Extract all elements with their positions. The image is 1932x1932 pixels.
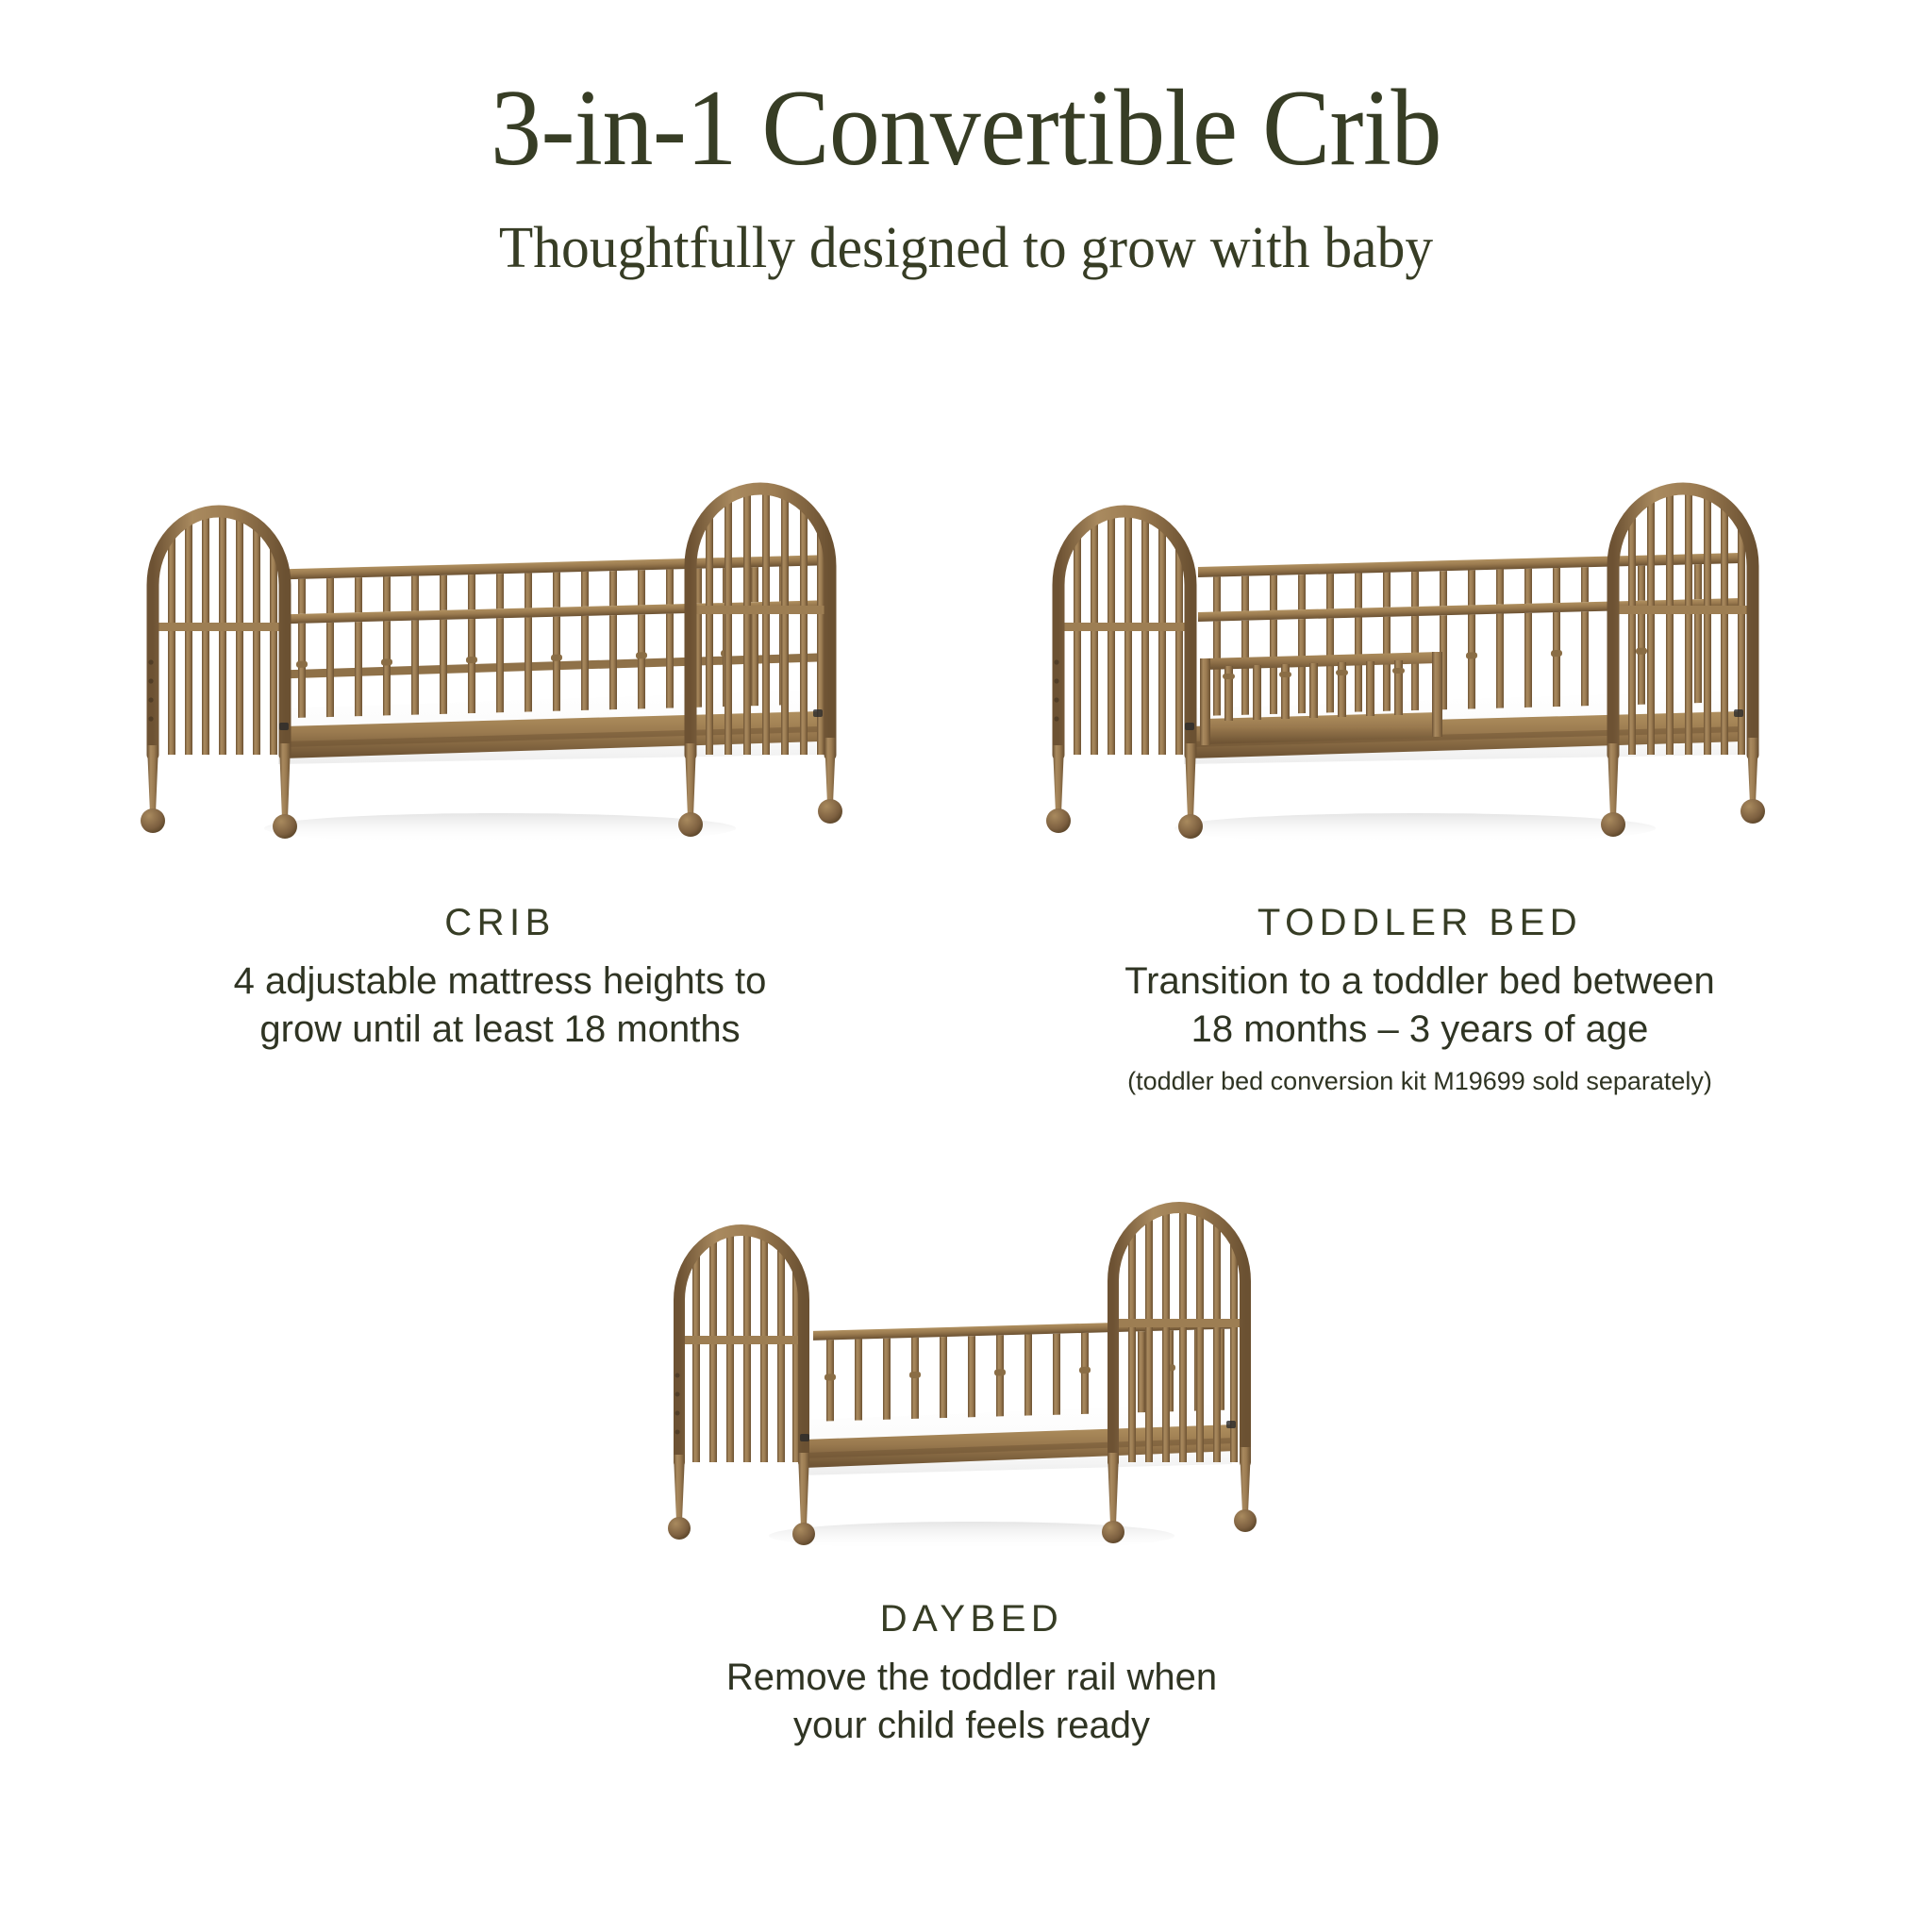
toddler-bed-body-line2: 18 months – 3 years of age	[1191, 1008, 1649, 1050]
crib-body: 4 adjustable mattress heights to grow un…	[113, 958, 887, 1054]
infographic-page: 3-in-1 Convertible Crib Thoughtfully des…	[0, 0, 1932, 1932]
daybed-body: Remove the toddler rail when your child …	[566, 1654, 1377, 1750]
toddler-bed-body: Transition to a toddler bed between 18 m…	[1019, 958, 1821, 1054]
toddler-bed-body-line1: Transition to a toddler bed between	[1124, 960, 1715, 1002]
daybed-illustration	[641, 1160, 1302, 1575]
crib-caption: CRIB 4 adjustable mattress heights to gr…	[113, 902, 887, 1054]
page-subtitle: Thoughtfully designed to grow with baby	[39, 219, 1893, 277]
header: 3-in-1 Convertible Crib Thoughtfully des…	[0, 74, 1932, 277]
crib-heading: CRIB	[113, 902, 887, 944]
panel-toddler-bed: TODDLER BED Transition to a toddler bed …	[1019, 443, 1821, 1098]
crib-body-line1: 4 adjustable mattress heights to	[234, 960, 767, 1002]
page-title: 3-in-1 Convertible Crib	[68, 74, 1865, 183]
crib-body-line2: grow until at least 18 months	[259, 1008, 740, 1050]
daybed-heading: DAYBED	[566, 1598, 1377, 1641]
daybed-caption: DAYBED Remove the toddler rail when your…	[566, 1598, 1377, 1750]
panel-daybed: DAYBED Remove the toddler rail when your…	[566, 1160, 1377, 1750]
daybed-body-line1: Remove the toddler rail when	[726, 1657, 1217, 1698]
toddler-bed-note: (toddler bed conversion kit M19699 sold …	[1019, 1065, 1821, 1098]
crib-illustration	[113, 443, 887, 877]
toddler-bed-caption: TODDLER BED Transition to a toddler bed …	[1019, 902, 1821, 1098]
panel-crib: CRIB 4 adjustable mattress heights to gr…	[113, 443, 887, 1054]
daybed-body-line2: your child feels ready	[793, 1705, 1150, 1746]
toddler-bed-illustration	[1019, 443, 1821, 877]
toddler-bed-heading: TODDLER BED	[1019, 902, 1821, 944]
